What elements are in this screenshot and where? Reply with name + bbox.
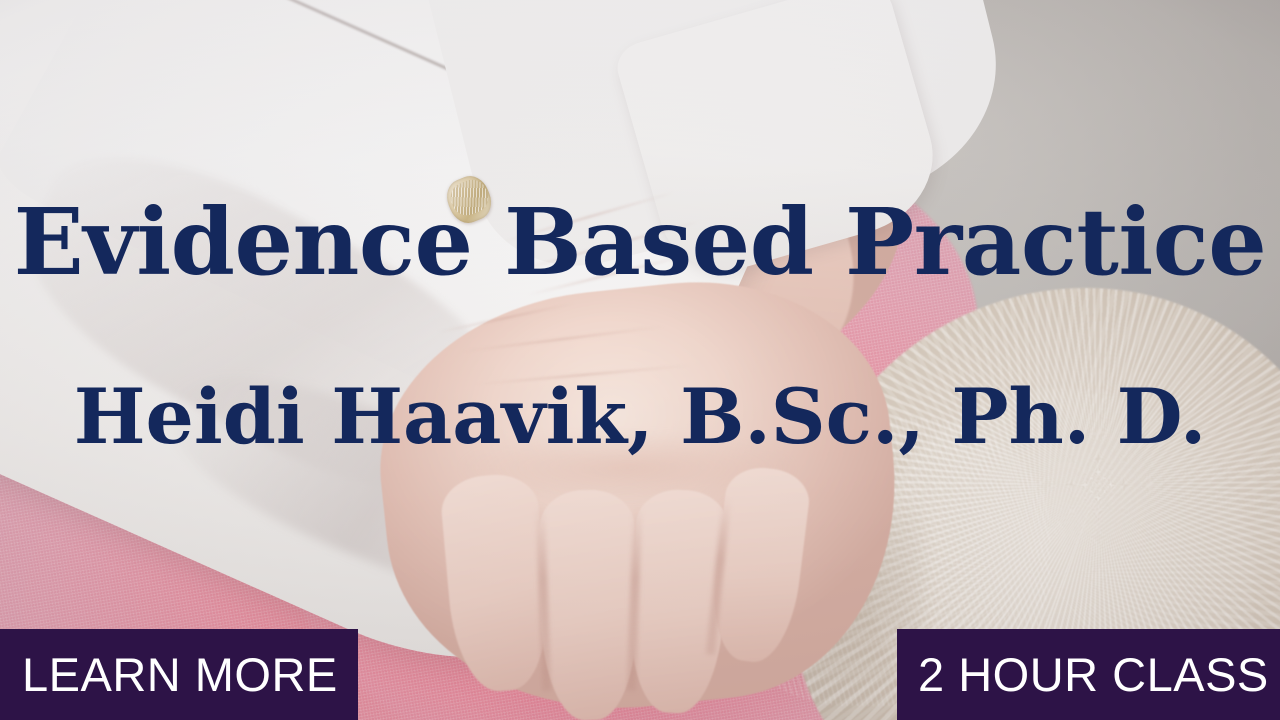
class-duration-badge: 2 HOUR CLASS [897, 629, 1280, 720]
class-duration-label: 2 HOUR CLASS [918, 651, 1269, 698]
page-title: Evidence Based Practice [0, 196, 1280, 288]
learn-more-label: LEARN MORE [22, 651, 338, 698]
finger-middle [539, 489, 638, 720]
promo-banner-image: Evidence Based Practice Heidi Haavik, B.… [0, 0, 1280, 720]
background-photo [0, 0, 1280, 720]
presenter-name: Heidi Haavik, B.Sc., Ph. D. [0, 379, 1280, 455]
learn-more-button[interactable]: LEARN MORE [0, 629, 358, 720]
